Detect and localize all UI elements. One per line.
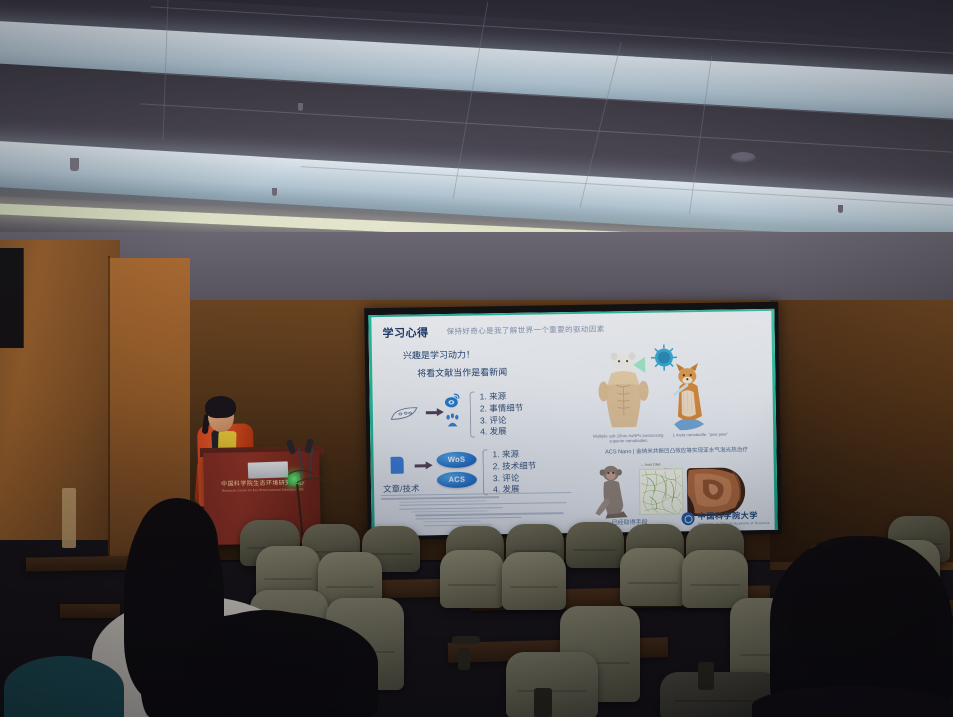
figure-caption-main: ACS Nano | 金纳米共振凹凸效应等实现亚水气泡光热治疗 bbox=[588, 445, 764, 456]
row2-item: 2. 技术细节 bbox=[493, 460, 537, 472]
slide-subtitle: 保持好奇心是我了解世界一个重要的驱动因素 bbox=[446, 323, 604, 336]
liver-tissue-figure bbox=[687, 467, 746, 516]
list-brace bbox=[482, 449, 488, 495]
chair-base bbox=[534, 688, 552, 717]
chair[interactable] bbox=[502, 552, 566, 610]
slide-heading-2: 将看文献当作是看新闻 bbox=[417, 365, 507, 379]
lecture-hall-photo: 学习心得 保持好奇心是我了解世界一个重要的驱动因素 兴趣是学习动力！ 将看文献当… bbox=[0, 0, 953, 717]
presentation-slide: 学习心得 保持好奇心是我了解世界一个重要的驱动因素 兴趣是学习动力！ 将看文献当… bbox=[368, 309, 777, 536]
slide-accent-right bbox=[771, 309, 777, 530]
projection-screen[interactable]: 学习心得 保持好奇心是我了解世界一个重要的驱动因素 兴趣是学习动力！ 将看文献当… bbox=[364, 302, 782, 540]
chair[interactable] bbox=[440, 550, 504, 608]
baidu-paw-icon bbox=[445, 413, 461, 428]
audience-head bbox=[186, 610, 346, 717]
chair[interactable] bbox=[682, 550, 748, 608]
figure-caption-bear: Multiple sub-10nm AuNPs possessing super… bbox=[592, 433, 664, 445]
sprinkler-head-icon bbox=[838, 205, 843, 213]
slide-heading-1: 兴趣是学习动力！ bbox=[403, 348, 475, 362]
muscular-dog-illustration bbox=[597, 351, 650, 432]
screen-surface: 学习心得 保持好奇心是我了解世界一个重要的驱动因素 兴趣是学习动力！ 将看文献当… bbox=[368, 309, 777, 536]
smoke-detector-icon bbox=[730, 152, 756, 164]
arrow-icon bbox=[415, 464, 427, 467]
row2-label: 文章/技术 bbox=[383, 482, 420, 495]
row1-item: 1. 来源 bbox=[480, 391, 524, 403]
wall-speaker bbox=[0, 248, 24, 348]
chair[interactable] bbox=[506, 652, 598, 717]
laptop[interactable] bbox=[248, 461, 289, 478]
row2-item: 3. 评论 bbox=[493, 472, 537, 484]
row2-list: 1. 来源 2. 技术细节 3. 评论 4. 发展 bbox=[492, 449, 536, 497]
chair[interactable] bbox=[566, 522, 624, 568]
watermelon-slice-icon bbox=[390, 404, 420, 421]
chair-base bbox=[698, 662, 714, 690]
row1-item: 4. 发展 bbox=[480, 426, 524, 438]
acs-badge[interactable]: ACS bbox=[437, 472, 477, 489]
dna-legend-item: host DNA bbox=[645, 463, 660, 467]
arrow-icon bbox=[426, 411, 438, 414]
wos-badge[interactable]: WoS bbox=[436, 452, 476, 469]
audience-head bbox=[790, 540, 936, 690]
row1-item: 2. 事情细节 bbox=[480, 403, 524, 415]
weibo-eye-icon bbox=[444, 392, 461, 408]
shiba-inu-illustration bbox=[665, 362, 710, 431]
chair[interactable] bbox=[620, 548, 686, 606]
ucas-seal-icon bbox=[682, 512, 695, 525]
sprinkler-head-icon bbox=[272, 188, 277, 196]
row1-list: 1. 来源 2. 事情细节 3. 评论 4. 发展 bbox=[480, 391, 524, 439]
audience-shoulders bbox=[4, 656, 124, 717]
slide-accent-left bbox=[368, 315, 374, 536]
list-brace bbox=[470, 392, 476, 438]
document-icon bbox=[391, 457, 404, 474]
wall-seam bbox=[108, 256, 110, 556]
chair-armrest bbox=[452, 636, 480, 644]
dna-network-figure bbox=[639, 468, 684, 515]
row2-item: 1. 来源 bbox=[492, 449, 536, 461]
speaker-hair bbox=[205, 395, 237, 418]
figure-caption-shiba: 1 meta nanobodle, "pew pew" bbox=[668, 432, 732, 438]
conference-table bbox=[60, 604, 120, 618]
exit-sensor-icon bbox=[70, 158, 79, 171]
sprinkler-head-icon bbox=[298, 103, 303, 111]
row1-item: 3. 评论 bbox=[480, 414, 524, 426]
slide-accent-top bbox=[368, 309, 774, 317]
door-frame-detail bbox=[62, 488, 76, 548]
chair-base bbox=[458, 648, 470, 670]
slide-title: 学习心得 bbox=[382, 324, 428, 341]
monkey-illustration bbox=[593, 463, 634, 522]
